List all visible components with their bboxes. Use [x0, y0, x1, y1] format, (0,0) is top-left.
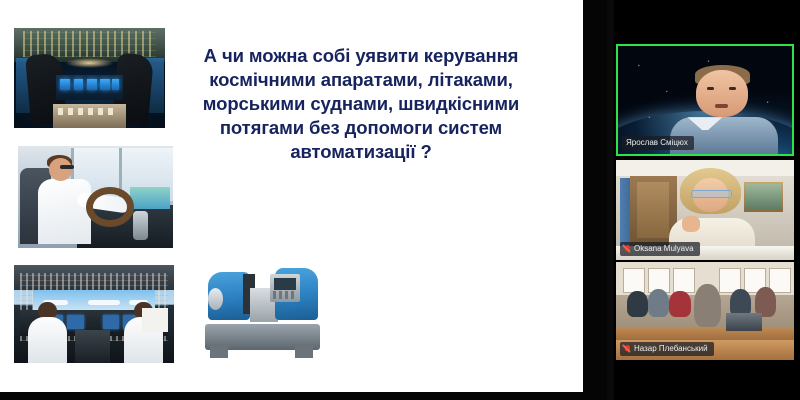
wall-picture-decoration [744, 182, 783, 212]
video-conference-screen: А чи можна собі уявити керування космічн… [0, 0, 800, 400]
participant-tile-3[interactable]: Назар Плебанський [616, 262, 794, 360]
participant-strip: Ярослав Сміцюх Oksana Mulyava [614, 0, 800, 400]
presentation-slide: А чи можна собі уявити керування космічн… [0, 0, 583, 392]
door-panel-decoration [637, 182, 669, 238]
wall-poster [673, 268, 695, 294]
student [648, 289, 669, 316]
cnc-lathe-image [200, 258, 325, 358]
person-glasses [691, 190, 732, 198]
person-eye-left [707, 87, 714, 90]
person-hand [682, 216, 700, 232]
participant-tile-2[interactable]: Oksana Mulyava [616, 160, 794, 260]
airliner-cockpit-image [14, 265, 174, 363]
person-eye-right [729, 87, 736, 90]
participant-name-label: Ярослав Сміцюх [626, 137, 688, 149]
microphone-muted-icon [624, 345, 631, 354]
slide-headline: А чи можна собі уявити керування космічн… [196, 44, 526, 164]
shared-screen-area[interactable]: А чи можна собі уявити керування космічн… [0, 0, 583, 392]
student [627, 291, 648, 316]
student [669, 291, 690, 316]
vehicle-operator-image [18, 146, 173, 248]
participant-name-badge: Назар Плебанський [620, 342, 714, 356]
person-face [696, 70, 748, 118]
participant-name-label: Назар Плебанський [634, 343, 708, 355]
participant-name-badge: Ярослав Сміцюх [622, 136, 694, 150]
wall-poster [623, 268, 645, 294]
person-mouth [715, 104, 727, 107]
vertical-scrollbar-track[interactable] [607, 0, 614, 400]
space-shuttle-cockpit-image [14, 28, 165, 128]
participant-name-badge: Oksana Mulyava [620, 242, 700, 256]
participant-name-label: Oksana Mulyava [634, 243, 694, 255]
participant-tile-1[interactable]: Ярослав Сміцюх [616, 44, 794, 156]
microphone-muted-icon [624, 245, 631, 254]
student-foreground [694, 284, 721, 327]
laptop-decoration [726, 313, 762, 331]
